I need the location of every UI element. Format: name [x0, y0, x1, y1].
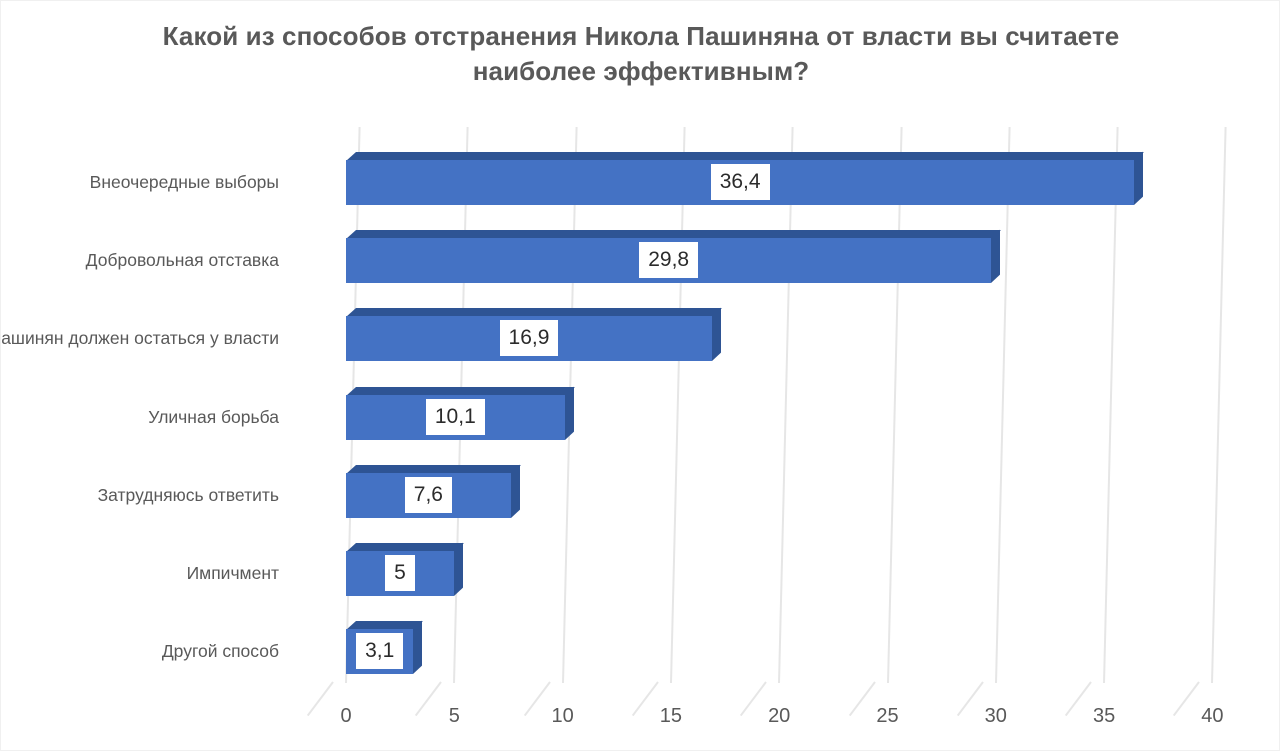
bar-side-face	[454, 543, 463, 596]
plot-area: 0510152025303540Внеочередные выборы36,4Д…	[1, 1, 1280, 752]
x-axis-tick-label: 40	[1201, 706, 1223, 726]
category-label: Затрудняюсь ответить	[98, 487, 279, 505]
category-label: Внеочередные выборы	[90, 174, 279, 192]
data-label: 29,8	[639, 242, 698, 278]
category-label: Добровольная отставка	[86, 252, 279, 270]
data-label: 10,1	[426, 399, 485, 435]
bar-side-face	[511, 464, 520, 517]
data-label: 7,6	[405, 477, 452, 513]
bar-side-face	[565, 386, 574, 439]
category-label: Уличная борьба	[148, 409, 279, 427]
gridline-floor-edge	[632, 681, 659, 716]
category-label: Другой способ	[162, 643, 279, 661]
gridline	[887, 127, 903, 683]
gridline-floor-edge	[848, 681, 875, 716]
bar-side-face	[413, 621, 422, 674]
category-label: Импичмент	[187, 565, 279, 583]
bar-side-face	[991, 230, 1000, 283]
chart-container: Какой из способов отстранения Никола Паш…	[0, 0, 1280, 751]
x-axis-tick-label: 35	[1093, 706, 1115, 726]
gridline-floor-edge	[740, 681, 767, 716]
gridline-floor-edge	[957, 681, 984, 716]
x-axis-tick-label: 0	[340, 706, 351, 726]
x-axis-tick-label: 5	[449, 706, 460, 726]
gridline	[778, 127, 794, 683]
x-axis-tick-label: 15	[660, 706, 682, 726]
gridline	[995, 127, 1011, 683]
gridline	[1103, 127, 1119, 683]
x-axis-tick-label: 30	[985, 706, 1007, 726]
data-label: 16,9	[500, 320, 559, 356]
data-label: 3,1	[356, 633, 403, 669]
gridline-floor-edge	[415, 681, 442, 716]
x-axis-tick-label: 10	[551, 706, 573, 726]
bar-side-face	[1134, 152, 1143, 205]
x-axis-tick-label: 25	[876, 706, 898, 726]
gridline-floor-edge	[524, 681, 551, 716]
data-label: 36,4	[711, 164, 770, 200]
bar-side-face	[712, 308, 721, 361]
x-axis-tick-label: 20	[768, 706, 790, 726]
gridline	[670, 127, 686, 683]
category-label: Пашинян должен остаться у власти	[0, 330, 279, 348]
gridline-floor-edge	[307, 681, 334, 716]
gridline-floor-edge	[1065, 681, 1092, 716]
gridline	[1211, 127, 1227, 683]
data-label: 5	[385, 555, 415, 591]
gridline-floor-edge	[1173, 681, 1200, 716]
